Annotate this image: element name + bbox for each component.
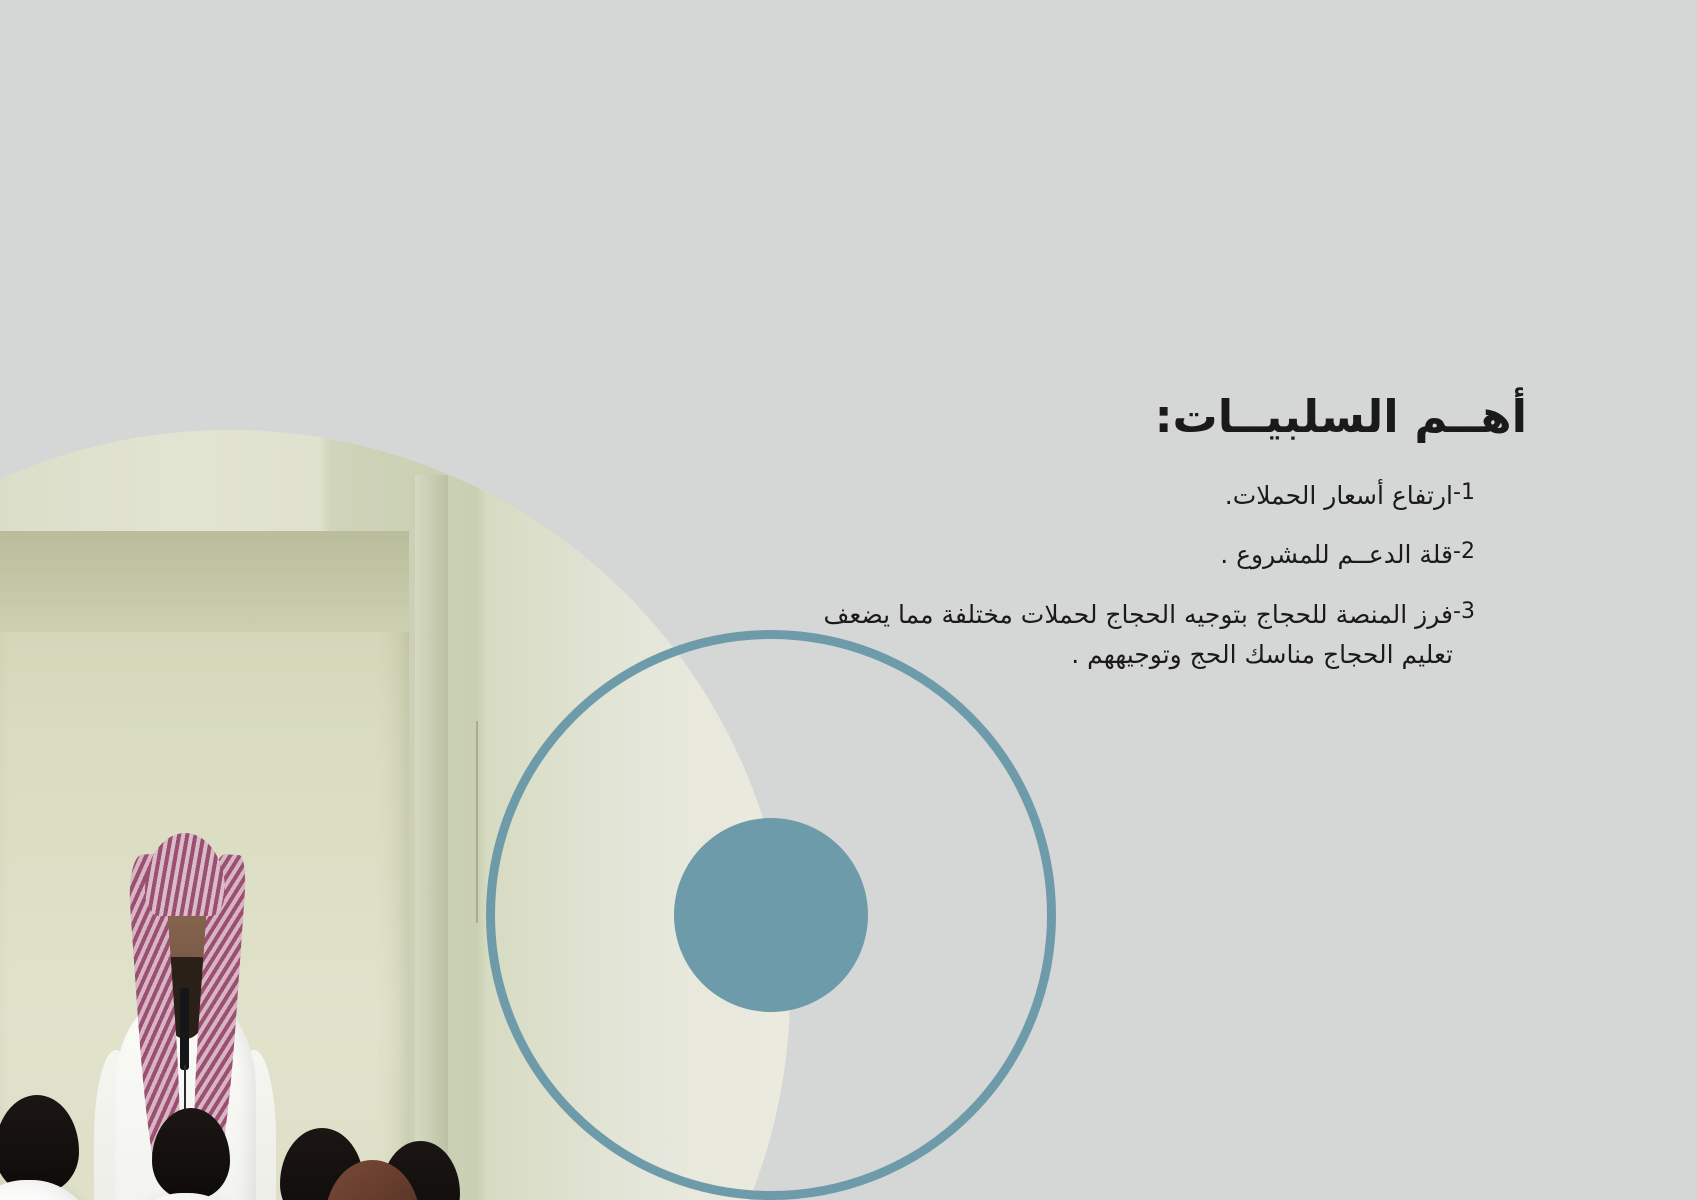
list-item-text-line2: تعليم الحجاج مناسك الحج وتوجيههم .	[697, 635, 1453, 676]
list-item-marker: -3	[1453, 595, 1527, 629]
list-item-text-line1: فرز المنصة للحجاج بتوجيه الحجاج لحملات م…	[824, 600, 1453, 629]
photo-crowd-head	[152, 1108, 230, 1199]
photo-wall-seam	[476, 721, 478, 923]
photo-crowd-person	[96, 1193, 275, 1200]
slide-text-block: أهــم السلبيــات: -1 ارتفاع أسعار الحملا…	[697, 392, 1527, 695]
list-item-marker: -2	[1453, 535, 1527, 569]
list-item: -3 فرز المنصة للحجاج بتوجيه الحجاج لحملا…	[697, 595, 1527, 676]
list-item-marker: -1	[1453, 476, 1527, 510]
page-title: أهــم السلبيــات:	[697, 392, 1527, 442]
slide-canvas: أهــم السلبيــات: -1 ارتفاع أسعار الحملا…	[0, 0, 1697, 1200]
list-item-text: ارتفاع أسعار الحملات.	[697, 476, 1453, 517]
negatives-list: -1 ارتفاع أسعار الحملات. -2 قلة الدعــم …	[697, 476, 1527, 676]
photo-crowd-head	[0, 1095, 79, 1192]
list-item-text: فرز المنصة للحجاج بتوجيه الحجاج لحملات م…	[697, 595, 1453, 676]
teal-filled-circle-icon	[674, 818, 868, 1012]
list-item-text: قلة الدعــم للمشروع .	[697, 535, 1453, 576]
list-item: -2 قلة الدعــم للمشروع .	[697, 535, 1527, 576]
photo-niche-soffit	[0, 531, 409, 632]
list-item: -1 ارتفاع أسعار الحملات.	[697, 476, 1527, 517]
